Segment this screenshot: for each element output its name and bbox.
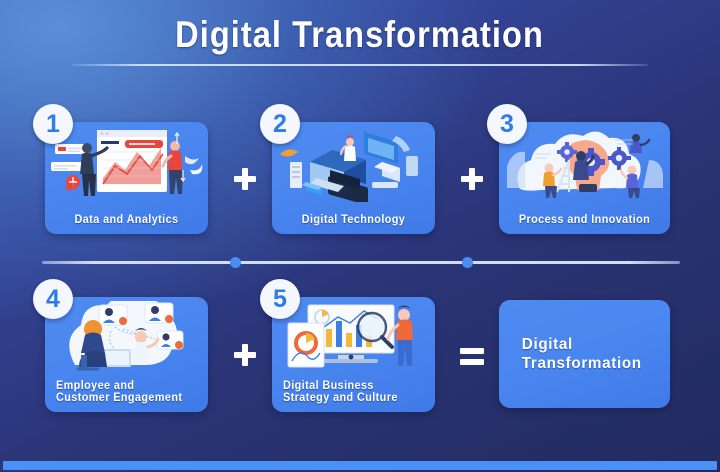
card-5-illustration [272, 301, 435, 372]
step-badge-2: 2 [260, 104, 300, 144]
result-card[interactable]: Digital Transformation [499, 300, 670, 408]
step-card-3[interactable]: Process and Innovation [499, 122, 670, 234]
card-3-illustration [499, 126, 670, 202]
step-card-1[interactable]: Data and Analytics [45, 122, 208, 234]
plus-operator-3 [232, 342, 258, 368]
step-card-5[interactable]: Digital Business Strategy and Culture [272, 297, 435, 412]
step-badge-3: 3 [487, 104, 527, 144]
section-divider [42, 261, 680, 264]
card-1-illustration [45, 126, 208, 202]
title-divider [72, 64, 648, 66]
result-label: Digital Transformation [499, 335, 642, 373]
card-4-illustration [45, 301, 208, 372]
step-badge-1: 1 [33, 104, 73, 144]
plus-operator-2 [459, 166, 485, 192]
plus-operator-1 [232, 166, 258, 192]
divider-dot-1 [230, 257, 241, 268]
card-5-label: Digital Business Strategy and Culture [283, 380, 418, 405]
bottom-accent-bar [3, 461, 717, 470]
step-card-2[interactable]: Digital Technology [272, 122, 435, 234]
step-card-4[interactable]: Employee and Customer Engagement [45, 297, 208, 412]
card-2-illustration [272, 126, 435, 202]
step-badge-4: 4 [33, 279, 73, 319]
card-3-label: Process and Innovation [510, 214, 659, 227]
card-4-label: Employee and Customer Engagement [56, 380, 191, 405]
divider-dot-2 [462, 257, 473, 268]
equals-operator [459, 342, 485, 368]
card-2-label: Digital Technology [283, 214, 425, 227]
step-badge-5: 5 [260, 279, 300, 319]
title-container: Digital Transformation [0, 14, 720, 56]
page-title: Digital Transformation [176, 14, 545, 56]
card-1-label: Data and Analytics [56, 214, 198, 227]
infographic-canvas: Digital Transformation [0, 0, 720, 472]
